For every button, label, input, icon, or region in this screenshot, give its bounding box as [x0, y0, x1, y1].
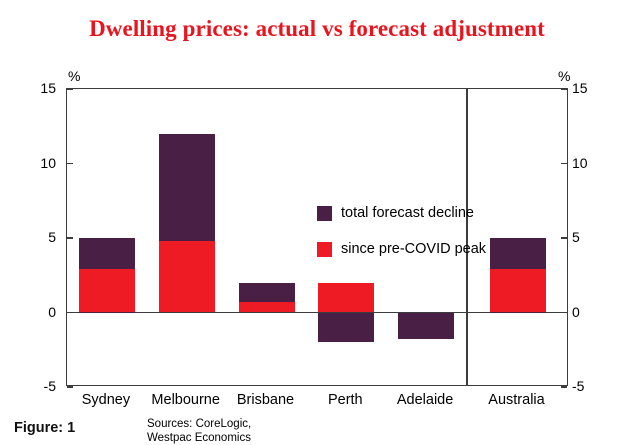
y-axis-tick-label-left: 10: [22, 155, 56, 171]
bar-since-pre-covid-peak-sydney: [79, 269, 135, 312]
y-axis-tick-label-right: -5: [572, 378, 606, 394]
bar-group-perth: [318, 89, 374, 385]
y-axis-tickmark: [561, 237, 567, 239]
y-axis-unit-left: %: [68, 68, 80, 84]
bar-group-sydney: [79, 89, 135, 385]
bar-group-adelaide: [398, 89, 454, 385]
bar-forecast-adelaide: [398, 313, 454, 340]
y-axis-tickmark: [67, 88, 73, 90]
sources-note: Sources: CoreLogic, Westpac Economics: [147, 418, 251, 445]
bar-forecast-perth: [318, 313, 374, 343]
y-axis-tickmark: [67, 312, 73, 314]
figure-label: Figure: 1: [14, 420, 75, 436]
x-axis-label-australia: Australia: [462, 392, 572, 408]
y-axis-tickmark: [67, 386, 73, 388]
y-axis-tick-label-right: 5: [572, 229, 606, 245]
y-axis-unit-right: %: [558, 68, 570, 84]
bar-since-pre-covid-peak-perth: [318, 283, 374, 313]
bar-group-brisbane: [239, 89, 295, 385]
y-axis-tickmark: [561, 386, 567, 388]
y-axis-tickmark: [67, 237, 73, 239]
y-axis-tick-label-left: 0: [22, 304, 56, 320]
bar-group-melbourne: [159, 89, 215, 385]
y-axis-tickmark: [561, 163, 567, 165]
y-axis-tick-label-right: 10: [572, 155, 606, 171]
y-axis-tickmark: [67, 163, 73, 165]
plot-area: total forecast decline since pre-COVID p…: [66, 88, 568, 386]
y-axis-tick-label-right: 0: [572, 304, 606, 320]
chart-title: Dwelling prices: actual vs forecast adju…: [0, 16, 634, 42]
y-axis-tick-label-right: 15: [572, 80, 606, 96]
bar-since-pre-covid-peak-australia: [490, 269, 546, 312]
y-axis-tickmark: [561, 312, 567, 314]
bar-since-pre-covid-peak-melbourne: [159, 241, 215, 313]
bar-since-pre-covid-peak-brisbane: [239, 302, 295, 312]
y-axis-tick-label-left: 15: [22, 80, 56, 96]
y-axis-tickmark: [561, 88, 567, 90]
y-axis-tick-label-left: 5: [22, 229, 56, 245]
bar-group-australia: [490, 89, 546, 385]
